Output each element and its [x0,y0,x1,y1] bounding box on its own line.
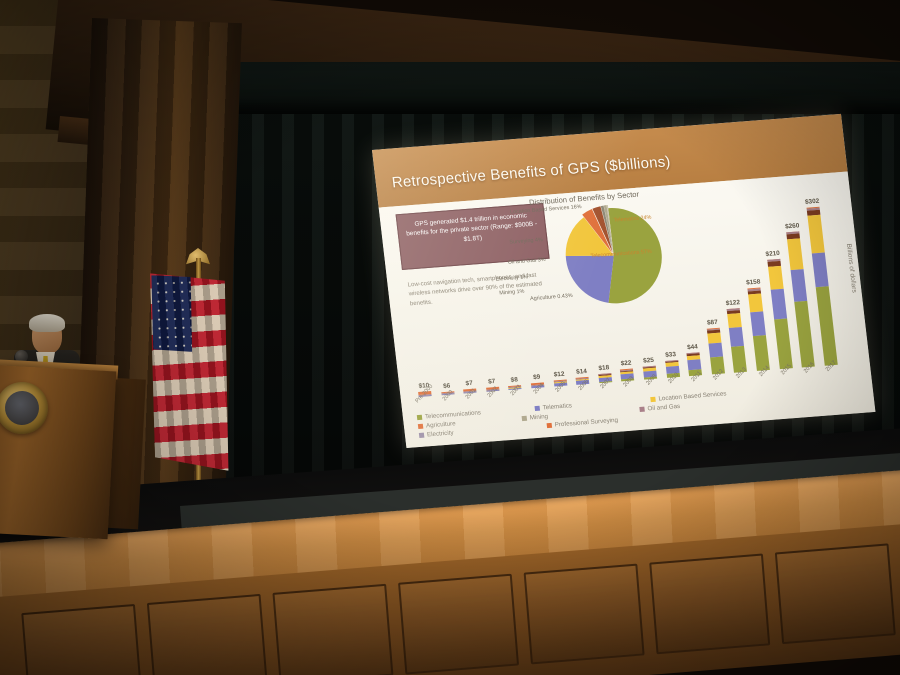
legend-label: Oil and Gas [647,403,680,412]
bar-segment [787,239,803,270]
bar-value-label: $14 [576,368,587,376]
bar-column: $62000 [441,391,454,395]
bar-column: $92004 [531,383,545,389]
bar-value-label: $122 [725,299,740,307]
bar-segment [728,313,743,328]
bar-value-label: $12 [553,370,564,378]
bar-segment [812,252,829,287]
bar-column: $142006 [576,377,590,385]
curtain-valance [222,62,900,114]
bar-column: $252009 [643,366,657,380]
legend-label: Mining [529,413,548,421]
bar-value-label: $9 [533,374,541,381]
legend-label: Electricity [427,429,454,438]
bar-segment [774,319,793,370]
bar-value-label: $260 [785,222,800,230]
bar-segment [708,343,723,358]
bar-value-label: $22 [620,360,631,368]
bar-segment [794,301,815,367]
bar-value-label: $87 [707,319,718,327]
united-states-flag [149,271,232,474]
auditorium-scene: Retrospective Benefits of GPS ($billions… [0,0,900,675]
legend-swatch [417,415,423,420]
legend-label: Telematics [542,402,572,411]
slide-body: GPS generated $1.4 trillion in economic … [379,172,876,448]
bar-column: $182007 [598,373,612,383]
bar-segment [729,327,744,347]
legend-swatch [547,423,553,428]
bar-value-label: $44 [687,343,698,351]
bar-segment [750,312,766,337]
bar-value-label: $18 [598,364,609,372]
bar-value-label: $33 [665,351,676,359]
bar-segment [807,215,824,254]
legend-swatch [639,407,645,412]
bar-segment [748,293,763,312]
bar-column: $222008 [620,369,634,381]
bar-value-label: $210 [765,250,780,258]
bar-value-label: $25 [643,357,654,365]
bar-column: $442011 [687,352,703,376]
bar-segment [768,265,784,289]
bar-segment [770,289,786,320]
bar-column: $10Pre-2000 [418,391,432,397]
bar-segment [816,287,838,366]
bar-column: $332010 [665,360,680,378]
bar-column: $122005 [553,379,567,386]
projection-screen: Retrospective Benefits of GPS ($billions… [372,114,875,448]
legend-label: Agriculture [426,420,456,429]
bar-column: $1582014 [747,288,770,371]
bar-value-label: $302 [805,198,820,206]
bar-value-label: $158 [746,279,761,287]
bar-column: $2102015 [767,259,793,370]
legend-swatch [535,406,541,411]
bar-column: $72002 [486,387,499,392]
legend-swatch [418,424,424,429]
legend-swatch [650,397,656,402]
bar-column: $72001 [463,389,476,394]
bar-column: $872012 [707,328,725,374]
bar-value-label: $8 [510,376,518,383]
legend-swatch [522,416,528,421]
bar-column: $1222013 [727,308,747,373]
bar-column: $82003 [508,385,521,390]
legend-swatch [419,433,425,438]
bar-segment [791,269,808,302]
